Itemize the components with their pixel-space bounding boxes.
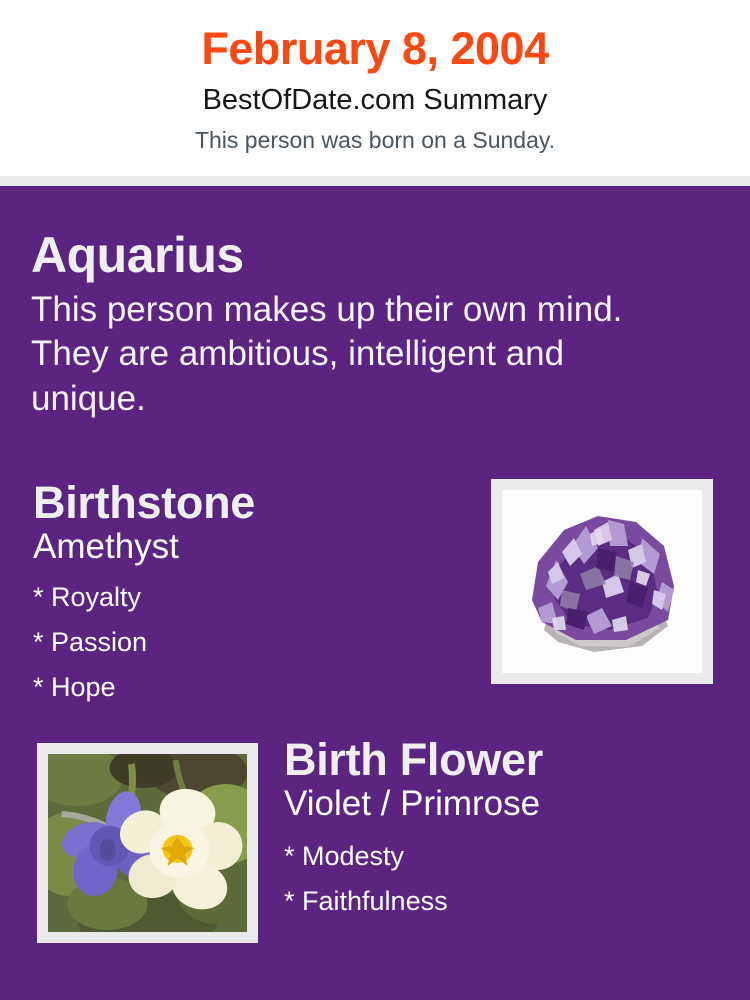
birthstone-section: Birthstone Amethyst * Royalty * Passion … [33, 479, 473, 710]
list-item: * Royalty [33, 575, 473, 620]
birth-flower-image-frame [37, 743, 258, 943]
birth-flower-section: Birth Flower Violet / Primrose * Modesty… [284, 736, 734, 924]
birthstone-image-frame [491, 479, 713, 684]
violet-and-primrose-flowers-photo [48, 754, 247, 932]
summary-panel: Aquarius This person makes up their own … [0, 186, 750, 1000]
header-divider [0, 176, 750, 186]
site-summary-subtitle: BestOfDate.com Summary [0, 71, 750, 115]
violet-primrose-illustration [48, 754, 247, 932]
amethyst-illustration [502, 490, 702, 673]
birth-flower-heading: Birth Flower [284, 736, 734, 783]
birthstone-name: Amethyst [33, 528, 473, 567]
birth-weekday-note: This person was born on a Sunday. [0, 115, 750, 152]
list-item: * Passion [33, 620, 473, 665]
birthstone-trait-list: * Royalty * Passion * Hope [33, 575, 473, 710]
list-item: * Modesty [284, 834, 734, 879]
birth-flower-trait-list: * Modesty * Faithfulness [284, 834, 734, 924]
birth-flower-name: Violet / Primrose [284, 785, 734, 824]
birthstone-heading: Birthstone [33, 479, 473, 526]
zodiac-sign-title: Aquarius [31, 229, 691, 282]
amethyst-crystal-cluster-photo [502, 490, 702, 673]
page-title-date: February 8, 2004 [0, 0, 750, 71]
list-item: * Faithfulness [284, 879, 734, 924]
zodiac-description: This person makes up their own mind. The… [31, 288, 671, 422]
page-header: February 8, 2004 BestOfDate.com Summary … [0, 0, 750, 176]
list-item: * Hope [33, 665, 473, 710]
zodiac-section: Aquarius This person makes up their own … [31, 229, 691, 422]
